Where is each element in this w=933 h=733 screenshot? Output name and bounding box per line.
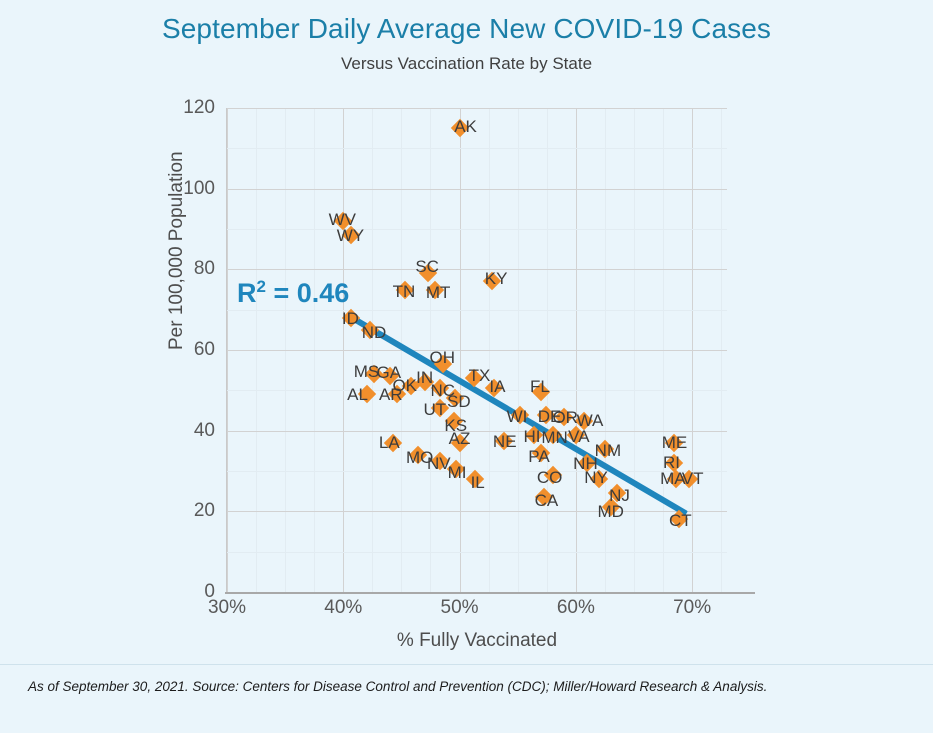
footnote-divider	[0, 664, 933, 665]
data-point-marker[interactable]	[364, 365, 382, 383]
data-point-marker[interactable]	[465, 470, 483, 488]
gridline-horizontal-minor	[227, 552, 727, 553]
chart-page: September Daily Average New COVID-19 Cas…	[0, 0, 933, 733]
data-point-marker[interactable]	[384, 434, 402, 452]
gridline-horizontal	[227, 108, 727, 109]
r-squared-symbol: R	[237, 278, 257, 308]
data-point-marker[interactable]	[426, 280, 444, 298]
gridline-horizontal	[227, 511, 727, 512]
gridline-horizontal	[227, 269, 727, 270]
data-point-marker[interactable]	[664, 454, 682, 472]
r-squared-value: = 0.46	[273, 278, 349, 308]
y-axis-tick-label: 0	[155, 581, 215, 603]
data-point-marker[interactable]	[446, 389, 464, 407]
gridline-horizontal-minor	[227, 229, 727, 230]
data-point-marker[interactable]	[431, 452, 449, 470]
y-axis-tick-label: 40	[155, 420, 215, 442]
gridline-horizontal	[227, 189, 727, 190]
data-point-marker[interactable]	[483, 272, 501, 290]
data-point-marker[interactable]	[679, 470, 697, 488]
y-axis-tick-label: 120	[155, 97, 215, 119]
footnote: As of September 30, 2021. Source: Center…	[28, 679, 767, 694]
y-axis-tick-label: 20	[155, 500, 215, 522]
x-axis-tick-label: 60%	[557, 597, 595, 619]
data-point-marker[interactable]	[495, 432, 513, 450]
x-axis-line	[225, 592, 755, 594]
data-point-marker[interactable]	[447, 460, 465, 478]
gridline-horizontal	[227, 350, 727, 351]
data-point-marker[interactable]	[408, 446, 426, 464]
gridline-horizontal-minor	[227, 148, 727, 149]
x-axis-label: % Fully Vaccinated	[227, 630, 727, 652]
data-point-marker[interactable]	[381, 367, 399, 385]
page-subtitle: Versus Vaccination Rate by State	[0, 54, 933, 74]
x-axis-tick-label: 40%	[324, 597, 362, 619]
data-point-marker[interactable]	[535, 488, 553, 506]
page-title: September Daily Average New COVID-19 Cas…	[0, 13, 933, 45]
data-point-marker[interactable]	[431, 399, 449, 417]
data-point-marker[interactable]	[555, 407, 573, 425]
data-point-marker[interactable]	[396, 280, 414, 298]
data-point-marker[interactable]	[450, 119, 468, 137]
y-axis-label: Per 100,000 Population	[166, 151, 188, 350]
gridline-horizontal	[227, 431, 727, 432]
gridline-horizontal-minor	[227, 310, 727, 311]
r-squared-annotation: R2 = 0.46	[237, 277, 349, 309]
data-point-marker[interactable]	[664, 434, 682, 452]
data-point-marker[interactable]	[596, 440, 614, 458]
data-point-marker[interactable]	[536, 405, 554, 423]
r-squared-exponent: 2	[257, 277, 266, 296]
x-axis-tick-label: 50%	[441, 597, 479, 619]
x-axis-tick-label: 70%	[673, 597, 711, 619]
data-point-marker[interactable]	[450, 434, 468, 452]
plot-area: 30%40%50%60%70%020406080100120AKWVWYSCKY…	[227, 108, 727, 592]
